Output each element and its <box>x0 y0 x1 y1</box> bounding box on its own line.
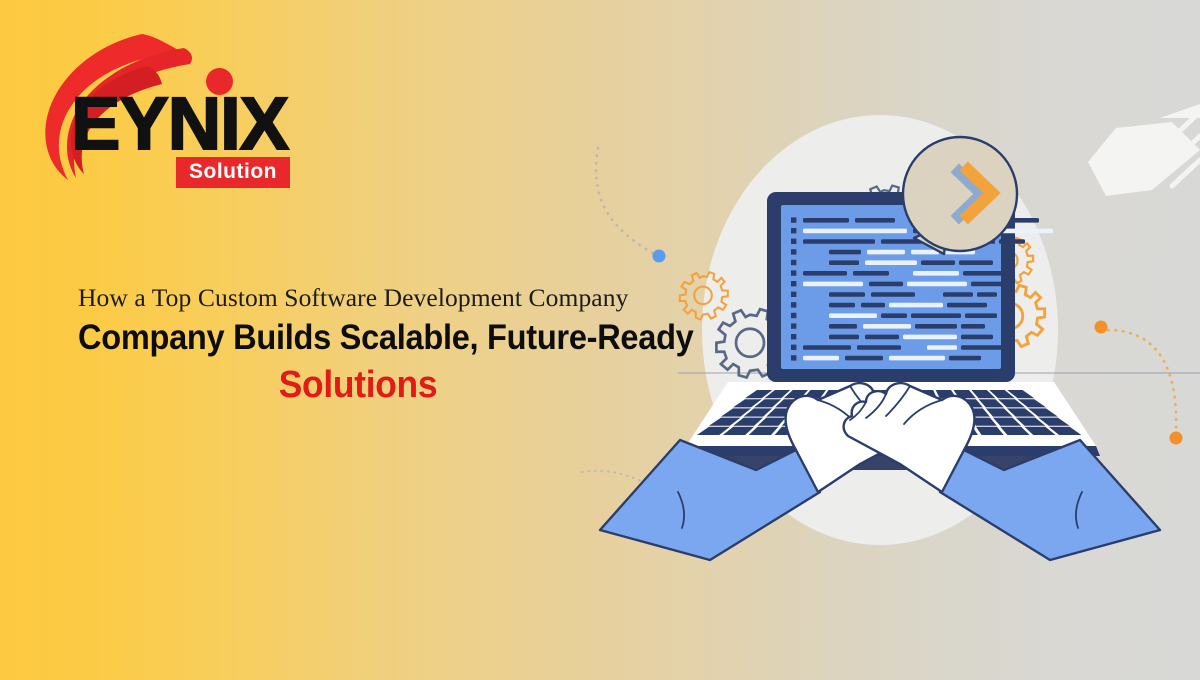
accent-dot-orange-top <box>1095 321 1108 334</box>
code-token-bar <box>921 260 955 265</box>
code-token-bar <box>903 335 957 340</box>
sleeve-right <box>940 440 1160 560</box>
code-token-bar <box>913 271 959 276</box>
logo-accent-dot <box>206 68 233 95</box>
code-token-bar <box>803 345 851 350</box>
headline-line-2: Company Builds Scalable, Future-Ready <box>78 316 636 360</box>
code-line-number <box>791 334 796 339</box>
code-token-bar <box>855 218 895 223</box>
code-token-bar <box>865 335 899 340</box>
code-line-number <box>791 313 796 318</box>
code-token-bar <box>803 239 875 244</box>
code-token-bar <box>857 345 901 350</box>
code-token-bar <box>963 271 1007 276</box>
code-token-bar <box>965 313 997 318</box>
code-token-bar <box>803 271 847 276</box>
code-token-bar <box>961 345 1009 350</box>
code-line-number <box>791 228 796 233</box>
logo[interactable]: EYNIX Solution <box>24 22 344 192</box>
code-token-bar <box>947 303 987 308</box>
code-token-bar <box>865 260 917 265</box>
code-token-bar <box>869 282 903 287</box>
code-token-bar <box>829 335 859 340</box>
code-token-bar <box>829 250 861 255</box>
code-line-number <box>791 239 796 244</box>
code-token-bar <box>861 303 885 308</box>
code-token-bar <box>871 292 915 297</box>
cursor-arrow-icon <box>1088 104 1200 196</box>
code-token-bar <box>829 303 855 308</box>
code-token-bar <box>915 324 957 329</box>
code-line-number <box>791 281 796 286</box>
code-token-bar <box>863 324 911 329</box>
code-token-bar <box>999 239 1025 244</box>
code-token-bar <box>845 356 883 361</box>
code-token-bar <box>803 356 839 361</box>
code-line-number <box>791 355 796 360</box>
code-token-bar <box>943 292 973 297</box>
code-line-number <box>791 345 796 350</box>
code-token-bar <box>867 250 905 255</box>
code-line-number <box>791 217 796 222</box>
code-token-bar <box>803 229 907 234</box>
code-line-number <box>791 323 796 328</box>
code-line-number <box>791 292 796 297</box>
code-token-bar <box>803 282 863 287</box>
code-token-bar <box>889 356 945 361</box>
code-token-bar <box>907 282 967 287</box>
code-token-bar <box>881 313 907 318</box>
code-token-bar <box>803 218 849 223</box>
code-token-bar <box>961 335 993 340</box>
code-token-bar <box>853 271 889 276</box>
code-token-bar <box>911 250 939 255</box>
dotted-curve-gray <box>596 148 654 254</box>
headline-line-3: Solutions <box>98 362 619 408</box>
code-token-bar <box>829 324 857 329</box>
code-token-bar <box>959 260 993 265</box>
code-line-number <box>791 260 796 265</box>
code-token-bar <box>889 303 943 308</box>
code-token-bar <box>911 313 961 318</box>
dotted-curve-orange <box>1108 330 1176 430</box>
sleeve-left <box>600 440 820 560</box>
accent-dot-blue <box>653 250 666 263</box>
code-line-number <box>791 302 796 307</box>
code-token-bar <box>829 292 865 297</box>
code-token-bar <box>949 356 981 361</box>
code-line-number <box>791 270 796 275</box>
code-token-bar <box>961 324 985 329</box>
accent-dot-orange-bottom <box>1170 432 1183 445</box>
developer-coding-illustration <box>560 0 1200 680</box>
code-token-bar <box>829 260 859 265</box>
banner: EYNIX Solution How a Top Custom Software… <box>0 0 1200 680</box>
logo-wordmark: EYNIX <box>71 87 288 161</box>
code-token-bar <box>829 313 877 318</box>
code-line-number <box>791 249 796 254</box>
code-token-bar <box>977 292 997 297</box>
logo-badge: Solution <box>176 157 290 188</box>
code-token-bar <box>971 282 1013 287</box>
code-token-bar <box>927 345 957 350</box>
